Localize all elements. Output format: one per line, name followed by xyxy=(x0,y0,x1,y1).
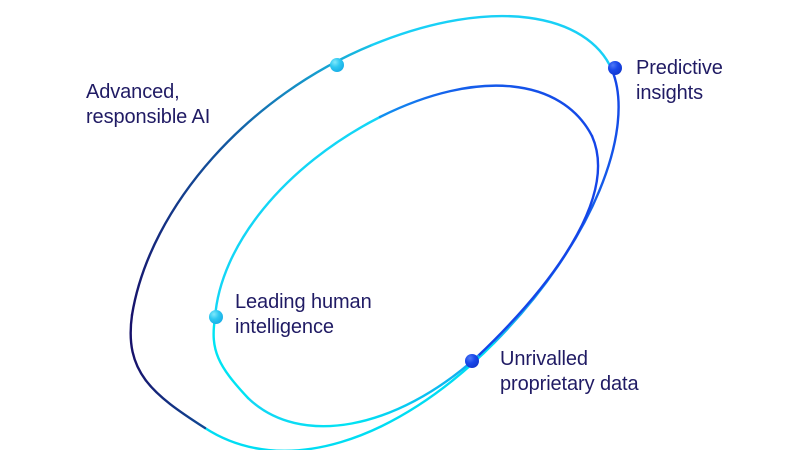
outer-ellipse-arc-right xyxy=(494,70,619,343)
inner-ellipse-arc-left xyxy=(215,117,380,318)
node-dot-leading-human-intelligence[interactable] xyxy=(209,310,223,324)
node-label-predictive-insights: Predictive insights xyxy=(636,56,723,106)
venn-ellipse-diagram: Advanced, responsible AI Predictive insi… xyxy=(0,0,800,450)
node-label-advanced-ai: Advanced, responsible AI xyxy=(86,80,210,130)
outer-ellipse-arc-bottom-right xyxy=(205,343,494,450)
outer-ellipse-arc-top xyxy=(372,16,612,70)
inner-ellipse-arc-right xyxy=(478,136,598,356)
node-dot-advanced-ai[interactable] xyxy=(330,58,344,72)
outer-ellipse-arc-lower-left xyxy=(131,315,205,428)
inner-ellipse-arc-top xyxy=(380,86,592,136)
inner-ellipse-arc-bottom xyxy=(248,356,478,426)
node-dot-unrivalled-proprietary-data[interactable] xyxy=(465,354,479,368)
node-label-unrivalled-proprietary-data: Unrivalled proprietary data xyxy=(500,347,638,397)
node-dot-predictive-insights[interactable] xyxy=(608,61,622,75)
node-label-leading-human-intelligence: Leading human intelligence xyxy=(235,290,372,340)
